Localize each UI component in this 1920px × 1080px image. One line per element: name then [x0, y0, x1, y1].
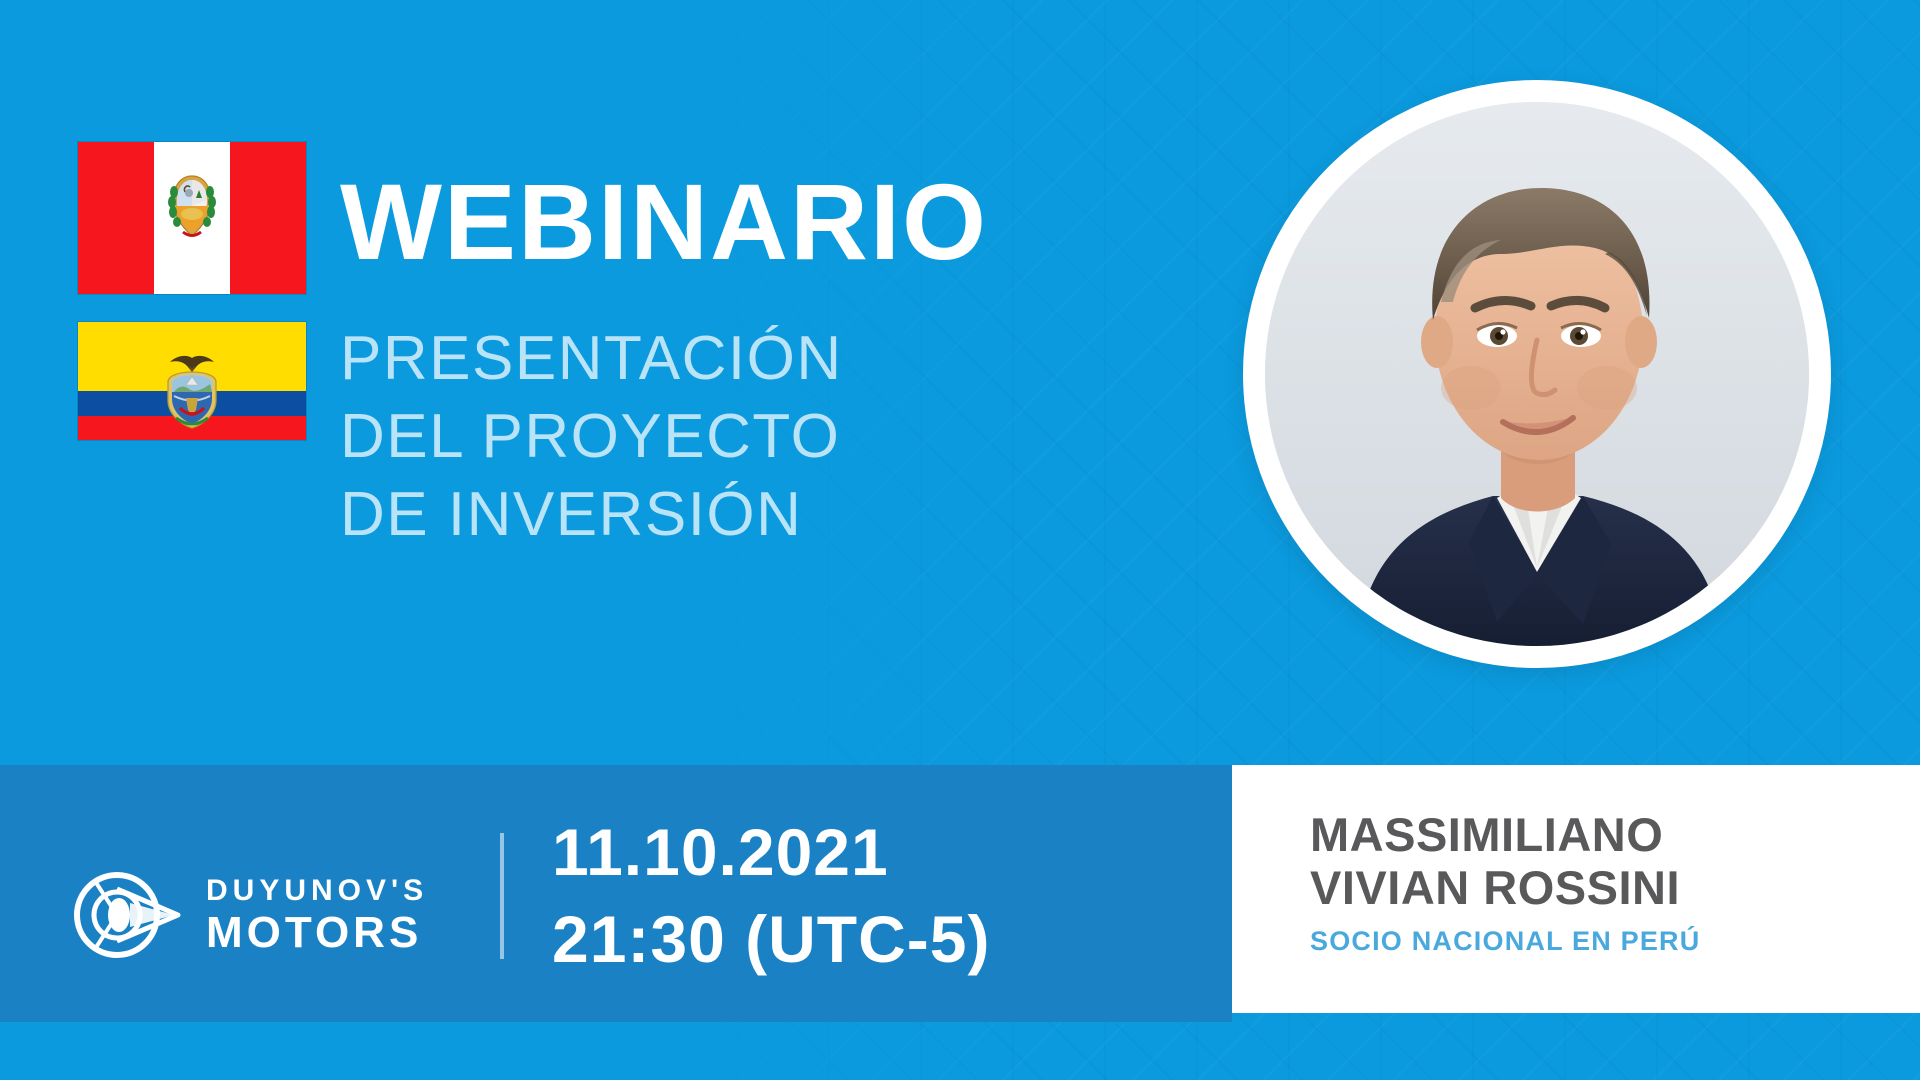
- subtitle-line-1: PRESENTACIÓN: [340, 320, 1180, 398]
- speaker-photo-ring: [1243, 80, 1831, 668]
- ecuador-flag: [78, 322, 306, 440]
- peru-flag-red-right: [230, 142, 306, 294]
- brand-logo[interactable]: DUYUNOV'S MOTORS: [70, 859, 428, 971]
- page-title: WEBINARIO: [340, 168, 1180, 276]
- headline-block: WEBINARIO PRESENTACIÓN DEL PROYECTO DE I…: [340, 168, 1180, 554]
- subtitle-line-3: DE INVERSIÓN: [340, 476, 1180, 554]
- avatar: [1265, 102, 1809, 646]
- peru-flag: [78, 142, 306, 294]
- speaker-name-panel: MASSIMILIANO VIVIAN ROSSINI SOCIO NACION…: [1232, 765, 1920, 1013]
- speaker-name-inner: MASSIMILIANO VIVIAN ROSSINI SOCIO NACION…: [1310, 809, 1900, 957]
- webinar-banner: WEBINARIO PRESENTACIÓN DEL PROYECTO DE I…: [0, 0, 1920, 1080]
- flag-stack: [78, 142, 306, 440]
- peru-flag-red-left: [78, 142, 154, 294]
- subtitle-line-2: DEL PROYECTO: [340, 398, 1180, 476]
- brand-logo-line2: MOTORS: [206, 911, 428, 955]
- subtitle: PRESENTACIÓN DEL PROYECTO DE INVERSIÓN: [340, 320, 1180, 554]
- speaker-portrait: [1265, 102, 1809, 646]
- ecuador-coat-of-arms-icon: [156, 352, 228, 430]
- peru-coat-of-arms-icon: [161, 170, 223, 242]
- brand-logo-line1: DUYUNOV'S: [206, 876, 428, 906]
- brand-logo-text: DUYUNOV'S MOTORS: [206, 876, 428, 955]
- speaker-name-line1: MASSIMILIANO: [1310, 809, 1900, 862]
- event-date: 11.10.2021: [552, 809, 990, 896]
- speaker-role: SOCIO NACIONAL EN PERÚ: [1310, 926, 1900, 957]
- duyunov-motors-logo-icon: [70, 859, 188, 971]
- event-datetime: 11.10.2021 21:30 (UTC-5): [552, 809, 990, 983]
- vertical-divider: [500, 833, 504, 959]
- bottom-info-bar: DUYUNOV'S MOTORS 11.10.2021 21:30 (UTC-5…: [0, 765, 1232, 1022]
- speaker-name-line2: VIVIAN ROSSINI: [1310, 862, 1900, 915]
- event-time: 21:30 (UTC-5): [552, 896, 990, 983]
- speaker-name: MASSIMILIANO VIVIAN ROSSINI: [1310, 809, 1900, 914]
